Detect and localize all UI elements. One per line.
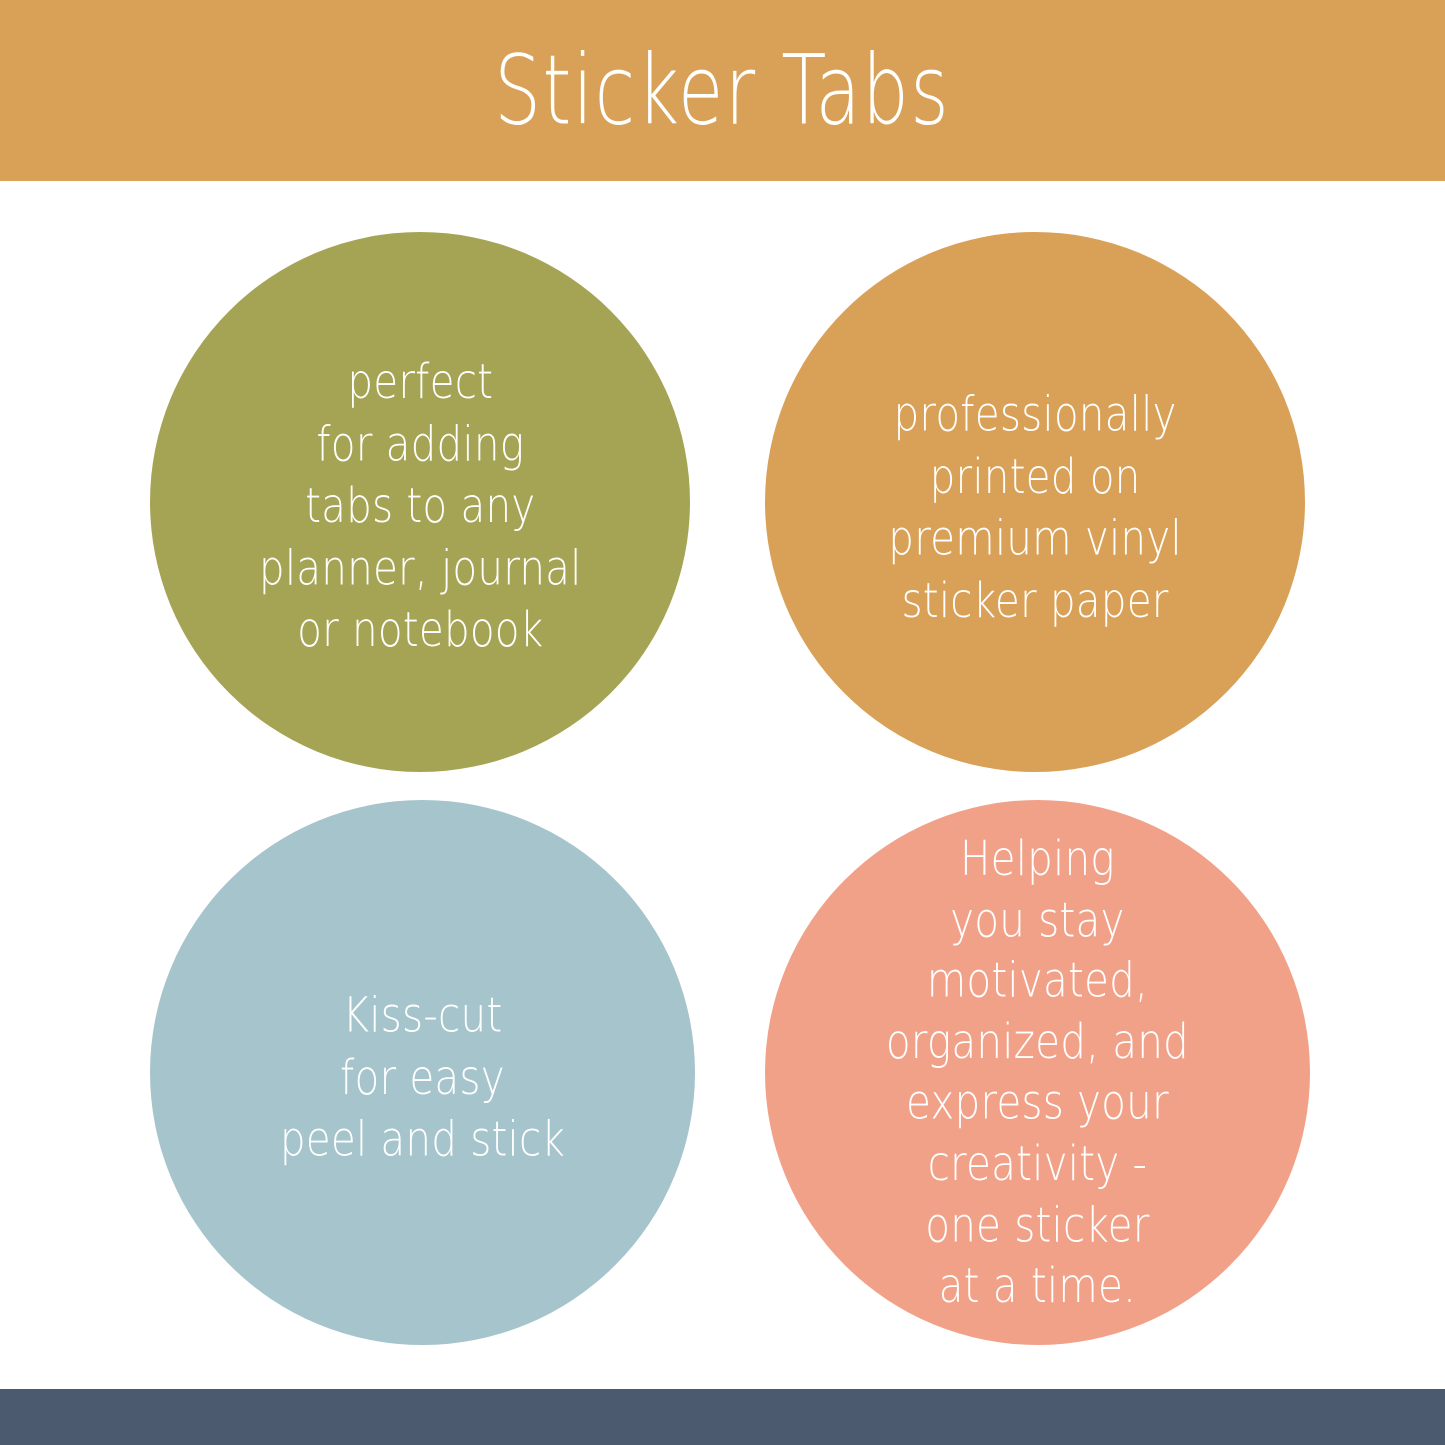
feature-circle-kiss-cut: Kiss-cut for easy peel and stick bbox=[150, 800, 695, 1345]
feature-circle-text: Helping you stay motivated, organized, a… bbox=[886, 828, 1189, 1316]
feature-circle-text: perfect for adding tabs to any planner, … bbox=[259, 351, 582, 661]
footer-bar bbox=[0, 1389, 1445, 1445]
sticker-tabs-infographic: Sticker Tabs perfect for adding tabs to … bbox=[0, 0, 1445, 1445]
page-title: Sticker Tabs bbox=[494, 42, 950, 138]
feature-circle-perfect-for-adding-tabs: perfect for adding tabs to any planner, … bbox=[150, 232, 690, 772]
feature-circle-text: professionally printed on premium vinyl … bbox=[888, 384, 1182, 632]
feature-circle-grid: perfect for adding tabs to any planner, … bbox=[0, 181, 1445, 1389]
feature-circle-text: Kiss-cut for easy peel and stick bbox=[280, 984, 565, 1170]
feature-circle-helping-you-stay: Helping you stay motivated, organized, a… bbox=[765, 800, 1310, 1345]
feature-circle-professionally-printed: professionally printed on premium vinyl … bbox=[765, 232, 1305, 772]
header-banner: Sticker Tabs bbox=[0, 0, 1445, 181]
